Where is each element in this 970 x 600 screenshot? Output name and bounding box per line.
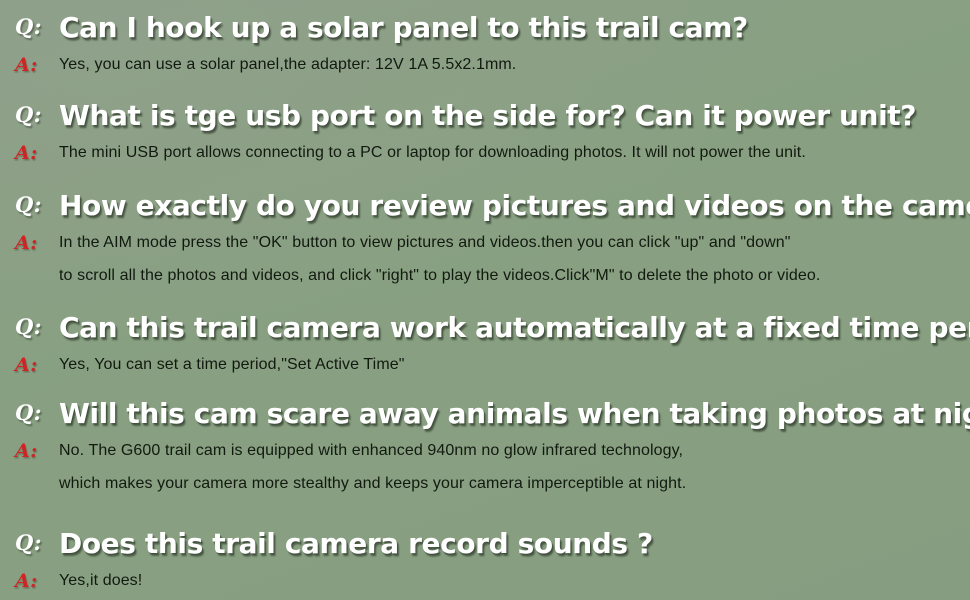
question-text: Will this cam scare away animals when ta… <box>59 394 970 434</box>
question-marker: Q: <box>15 14 42 39</box>
answer-text: No. The G600 trail cam is equipped with … <box>59 438 683 464</box>
question-text: What is tge usb port on the side for? Ca… <box>59 96 916 136</box>
answer-text: In the AIM mode press the "OK" button to… <box>59 230 791 256</box>
faq-board: Q:Can I hook up a solar panel to this tr… <box>0 0 970 600</box>
question-marker: Q: <box>15 314 42 339</box>
answer-text: Yes, You can set a time period,"Set Acti… <box>59 352 405 378</box>
answer-marker: A: <box>15 54 38 76</box>
question-row: Q:Will this cam scare away animals when … <box>0 394 627 438</box>
answer-row: A:In the AIM mode press the "OK" button … <box>0 230 761 260</box>
question-text: Does this trail camera record sounds ? <box>59 524 653 564</box>
answer-marker: A: <box>15 232 38 254</box>
answer-marker: A: <box>15 570 38 592</box>
question-text: Can this trail camera work automatically… <box>59 308 970 348</box>
answer-text: The mini USB port allows connecting to a… <box>59 140 806 166</box>
answer-marker: A: <box>15 440 38 462</box>
answer-text-continuation: which makes your camera more stealthy an… <box>59 468 686 500</box>
question-marker: Q: <box>15 102 42 127</box>
answer-text: Yes,it does! <box>59 568 142 594</box>
question-text: How exactly do you review pictures and v… <box>59 186 970 226</box>
question-marker: Q: <box>15 400 42 425</box>
answer-row: A:No. The G600 trail cam is equipped wit… <box>0 438 627 468</box>
question-marker: Q: <box>15 530 42 555</box>
question-text: Can I hook up a solar panel to this trai… <box>59 8 748 48</box>
answer-marker: A: <box>15 142 38 164</box>
question-marker: Q: <box>15 192 42 217</box>
answer-text: Yes, you can use a solar panel,the adapt… <box>59 52 516 78</box>
faq-item: Q:Will this cam scare away animals when … <box>0 394 627 500</box>
faq-item: Q:How exactly do you review pictures and… <box>0 186 761 292</box>
question-row: Q:How exactly do you review pictures and… <box>0 186 761 230</box>
answer-marker: A: <box>15 354 38 376</box>
answer-text-continuation: to scroll all the photos and videos, and… <box>59 260 820 292</box>
